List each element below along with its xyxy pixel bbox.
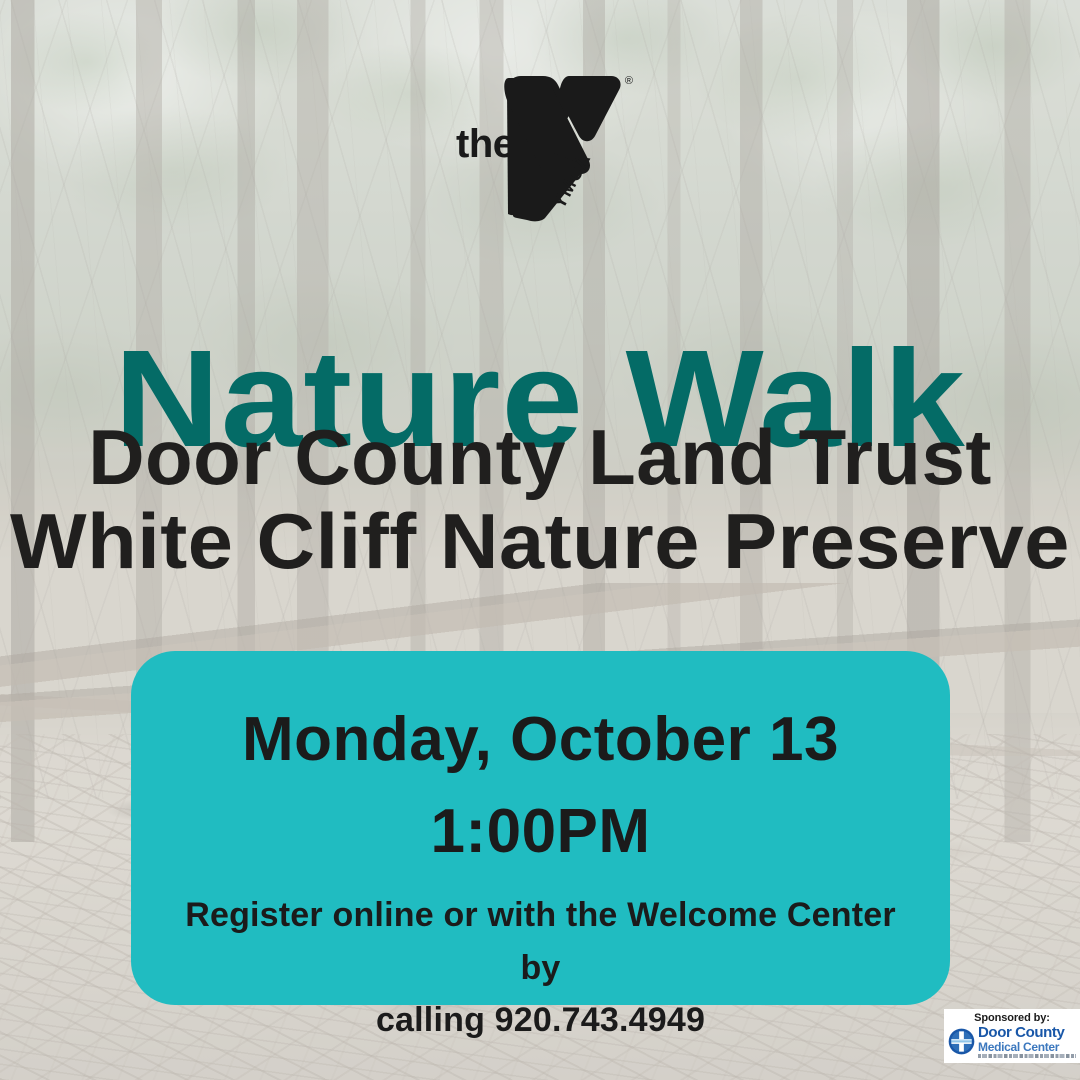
registration-instructions: Register online or with the Welcome Cent… (177, 889, 904, 1047)
sponsor-title: Sponsored by: (948, 1012, 1076, 1024)
ymca-logo: the YMCA ® (448, 62, 634, 222)
event-details-card: Monday, October 13 1:00PM Register onlin… (131, 651, 950, 1005)
ymca-y-mark: YMCA (503, 62, 623, 222)
sponsor-name-line-2: Medical Center (978, 1041, 1076, 1053)
sponsor-tagline (978, 1054, 1076, 1058)
sponsor-name: Door County Medical Center (978, 1025, 1076, 1058)
event-poster: the YMCA ® Nature Walk Door County Land … (0, 0, 1080, 1080)
event-date: Monday, October 13 (131, 709, 950, 771)
registration-line-2: calling 920.743.4949 (376, 1001, 705, 1039)
door-county-medical-center-cross-logo (948, 1028, 975, 1055)
subtitle-line-2: White Cliff Nature Preserve (0, 502, 1080, 580)
sponsor-logo-row: Door County Medical Center (948, 1025, 1076, 1058)
registration-line-1: Register online or with the Welcome Cent… (185, 896, 896, 987)
registered-trademark-icon: ® (625, 76, 633, 87)
sponsor-badge: Sponsored by: Door County Medical Center (944, 1009, 1080, 1063)
sponsor-name-line-1: Door County (978, 1025, 1076, 1040)
event-time: 1:00PM (131, 801, 950, 863)
subtitle-block: Door County Land Trust White Cliff Natur… (0, 418, 1080, 580)
subtitle-line-1: Door County Land Trust (0, 418, 1080, 496)
